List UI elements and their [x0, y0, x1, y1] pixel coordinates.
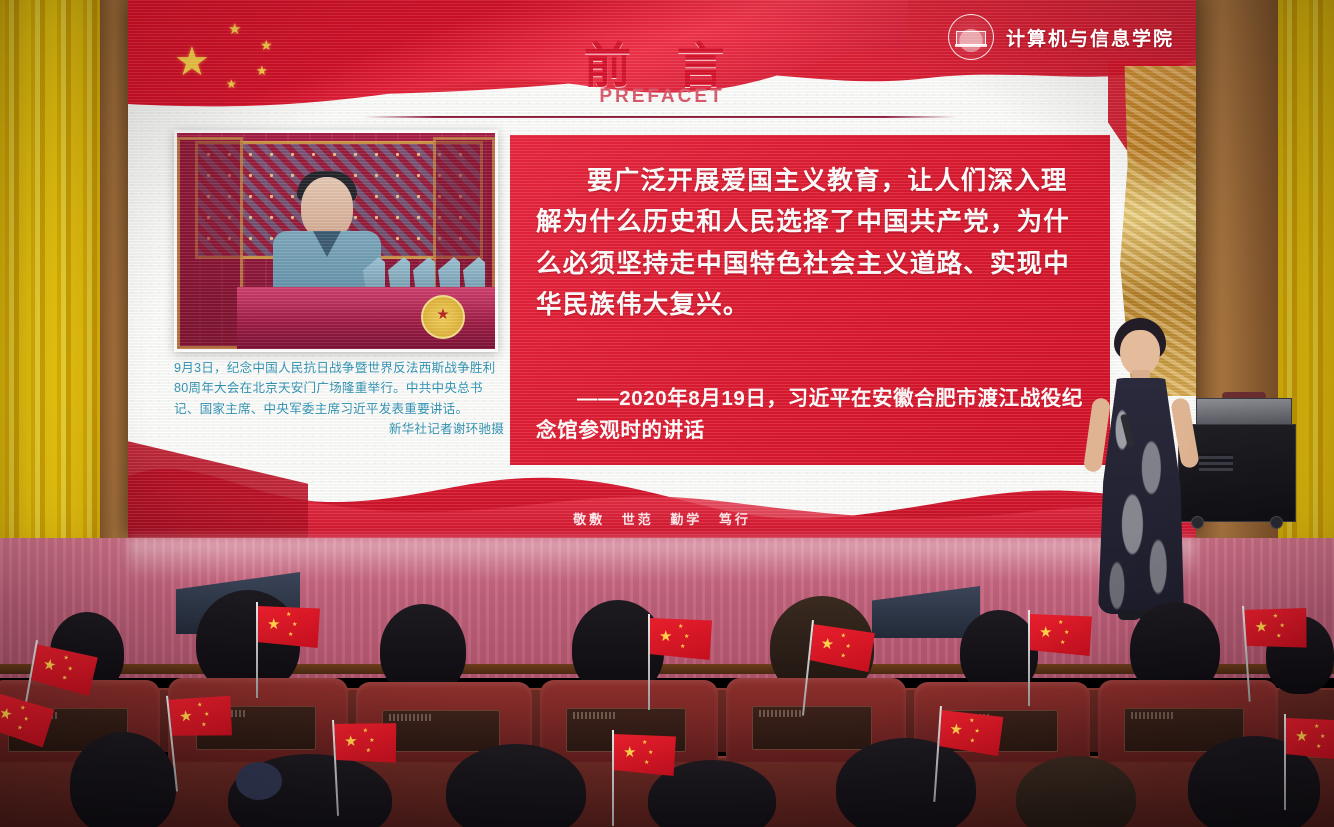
presenter-speaker [1086, 318, 1196, 630]
audience-head [836, 738, 976, 827]
stage-curtain-left [0, 0, 100, 610]
presenter-dress [1098, 378, 1184, 614]
seat-writing-tray [382, 710, 500, 752]
slide-header-dept: 计算机与信息学院 [948, 14, 1174, 60]
audience-hair-tie [236, 762, 282, 800]
seat-logo-icon [759, 710, 801, 717]
slide-bottom-waves: 敬敷 世范 勤学 笃行 [128, 420, 1196, 538]
quote-text: 要广泛开展爱国主义教育，让人们深入理解为什么历史和人民选择了中国共产党，为什么必… [536, 161, 1084, 326]
seat-logo-icon [1131, 712, 1173, 719]
photo-podium [237, 287, 498, 349]
chinese-flag-icon: ★★★★ [168, 693, 234, 741]
school-motto: 敬敷 世范 勤学 笃行 [128, 509, 1196, 528]
seated-audience: ★★★★ ★★★★ ★★★★ ★★★★ ★★★★ ★★★★ ★★★★ ★★★★ [0, 636, 1334, 827]
flag-pole [1028, 610, 1030, 706]
dept-name-label: 计算机与信息学院 [1006, 24, 1174, 51]
chinese-flag-icon: ★★★★ [334, 721, 398, 766]
projection-screen[interactable]: ★ ★ ★ ★ ★ 计算机与信息学院 前 言 PREFACET [128, 0, 1196, 538]
case-wheel [1270, 516, 1283, 529]
presentation-slide: ★ ★ ★ ★ ★ 计算机与信息学院 前 言 PREFACET [128, 0, 1196, 538]
chinese-flag-icon: ★★★★ [650, 618, 712, 660]
title-divider [364, 116, 956, 118]
quote-box: 要广泛开展爱国主义教育，让人们深入理解为什么历史和人民选择了中国共产党，为什么必… [510, 135, 1110, 465]
chinese-flag-icon: ★★★★ [1030, 614, 1092, 656]
audience-head [70, 732, 176, 827]
case-vent-grille [1199, 453, 1233, 471]
slide-title-en: PREFACET [128, 86, 1196, 108]
national-emblem-icon [421, 295, 465, 339]
photo-speaker-head [301, 177, 353, 239]
flag-pole [256, 602, 258, 698]
leader-speaking-at-podium-photo [174, 130, 498, 352]
photo-door-left [177, 137, 243, 349]
presenter-shoe [1118, 610, 1140, 620]
seat-writing-tray [752, 706, 872, 750]
auditorium-scene: ★ ★ ★ ★ ★ 计算机与信息学院 前 言 PREFACET [0, 0, 1334, 827]
seat-logo-icon [573, 712, 615, 719]
photo-caption-text: 9月3日，纪念中国人民抗日战争暨世界反法西斯战争胜利80周年大会在北京天安门广场… [174, 361, 495, 416]
chinese-flag-icon: ★★★★ [1244, 606, 1309, 652]
flag-pole [648, 614, 650, 710]
university-seal-icon [948, 14, 994, 60]
flag-pole [1284, 714, 1286, 810]
chinese-flag-icon: ★★★★ [258, 606, 320, 648]
seat-logo-icon [389, 714, 431, 721]
chinese-flag-icon: ★★★★ [1286, 718, 1334, 760]
chinese-flag-icon: ★★★★ [614, 734, 676, 776]
flag-pole [612, 730, 614, 826]
